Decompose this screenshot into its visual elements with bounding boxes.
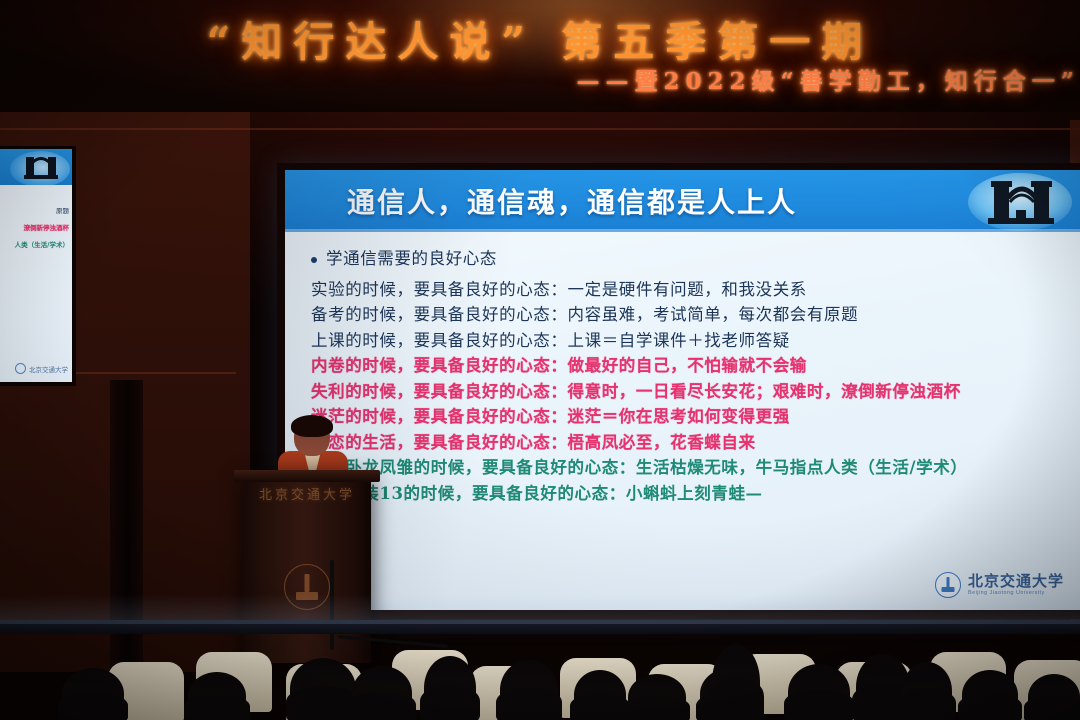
slide-bullet-row: 学通信需要的良好心态 xyxy=(311,246,1080,272)
slide-line: 实验的时候，要具备良好的心态：一定是硬件有问题，和我没关系 xyxy=(311,277,1080,303)
slide-title: 通信人，通信魂，通信都是人上人 xyxy=(347,181,797,221)
lecture-hall-photo: “知行达人说” 第五季第一期 ——暨2022级“善学勤工，知行合一” 原题 xyxy=(0,0,1080,720)
slide-line: 别有人装13的时候，要具备良好的心态：小蝌蚪上刻青蛙— xyxy=(311,481,1080,507)
banner-title-sub: ——暨2022级“善学勤工，知行合一” xyxy=(577,62,1080,96)
audience-head xyxy=(628,674,686,720)
slide-line: 别人卧龙凤雏的时候，要具备良好的心态：生活枯燥无味，牛马指点人类（生活/学术） xyxy=(311,455,1080,481)
university-logo-cn: 北京交通大学 xyxy=(968,574,1064,590)
side-slide-header xyxy=(0,149,72,185)
slide-line: 上课的时候，要具备良好的心态：上课＝自学课件＋找老师答疑 xyxy=(311,328,1080,354)
audience-head xyxy=(352,666,412,720)
banner-title-main: “知行达人说” 第五季第一期 xyxy=(0,8,1080,68)
audience-head xyxy=(902,662,952,720)
campus-arch-icon xyxy=(0,149,72,185)
podium-label: 北京交通大学 xyxy=(243,484,371,503)
slide-line: 内卷的时候，要具备良好的心态：做最好的自己，不怕输就不会输 xyxy=(311,353,1080,379)
slide-bullet-text: 学通信需要的良好心态 xyxy=(326,246,497,272)
slide-header: 通信人，通信魂，通信都是人上人 xyxy=(285,170,1080,232)
audience-head xyxy=(788,664,850,720)
slide-line: 迷茫的时候，要具备良好的心态：迷茫＝你在思考如何变得更强 xyxy=(311,404,1080,430)
side-line: 人类（生活/学术） xyxy=(0,237,69,254)
campus-arch-graphic xyxy=(958,172,1076,232)
slide-body: 学通信需要的良好心态 实验的时候，要具备良好的心态：一定是硬件有问题，和我没关系… xyxy=(285,232,1080,506)
bullet-dot-icon xyxy=(311,257,317,263)
projection-screen: 通信人，通信魂，通信都是人上人 xyxy=(285,170,1080,610)
audience-head xyxy=(500,660,558,720)
audience-area xyxy=(0,598,1080,720)
audience-head xyxy=(712,644,760,720)
audience-head xyxy=(424,656,476,720)
side-line: 原题 xyxy=(0,203,69,220)
audience-head xyxy=(574,670,626,720)
audience-head xyxy=(962,670,1018,720)
projection-screen-frame: 通信人，通信魂，通信都是人上人 xyxy=(277,163,1080,619)
audience-head xyxy=(290,658,356,720)
slide-line: 备考的时候，要具备良好的心态：内容虽难，考试简单，每次都会有原题 xyxy=(311,302,1080,328)
slide-line: 失恋的生活，要具备良好的心态：梧高凤必至，花香蝶自来 xyxy=(311,430,1080,456)
side-line: 潦倒新停浊酒杯 xyxy=(0,220,69,237)
side-monitor-screen: 原题 潦倒新停浊酒杯 人类（生活/学术） 北京交通大学 xyxy=(0,149,72,382)
side-slide-logo: 北京交通大学 xyxy=(15,363,68,374)
podium-top-surface xyxy=(234,470,380,482)
side-monitor: 原题 潦倒新停浊酒杯 人类（生活/学术） 北京交通大学 xyxy=(0,146,76,386)
side-logo-text: 北京交通大学 xyxy=(29,364,68,374)
audience-head xyxy=(188,672,246,720)
wall-trim-line xyxy=(0,128,1080,130)
led-title-banner: “知行达人说” 第五季第一期 ——暨2022级“善学勤工，知行合一” xyxy=(0,0,1080,112)
speaker-hair xyxy=(291,415,333,437)
side-slide-lines: 原题 潦倒新停浊酒杯 人类（生活/学术） xyxy=(0,185,72,254)
audience-head xyxy=(1028,674,1080,720)
audience-head xyxy=(62,668,124,720)
slide-line: 失利的时候，要具备良好的心态：得意时，一日看尽长安花；艰难时，潦倒新停浊酒杯 xyxy=(311,379,1080,405)
